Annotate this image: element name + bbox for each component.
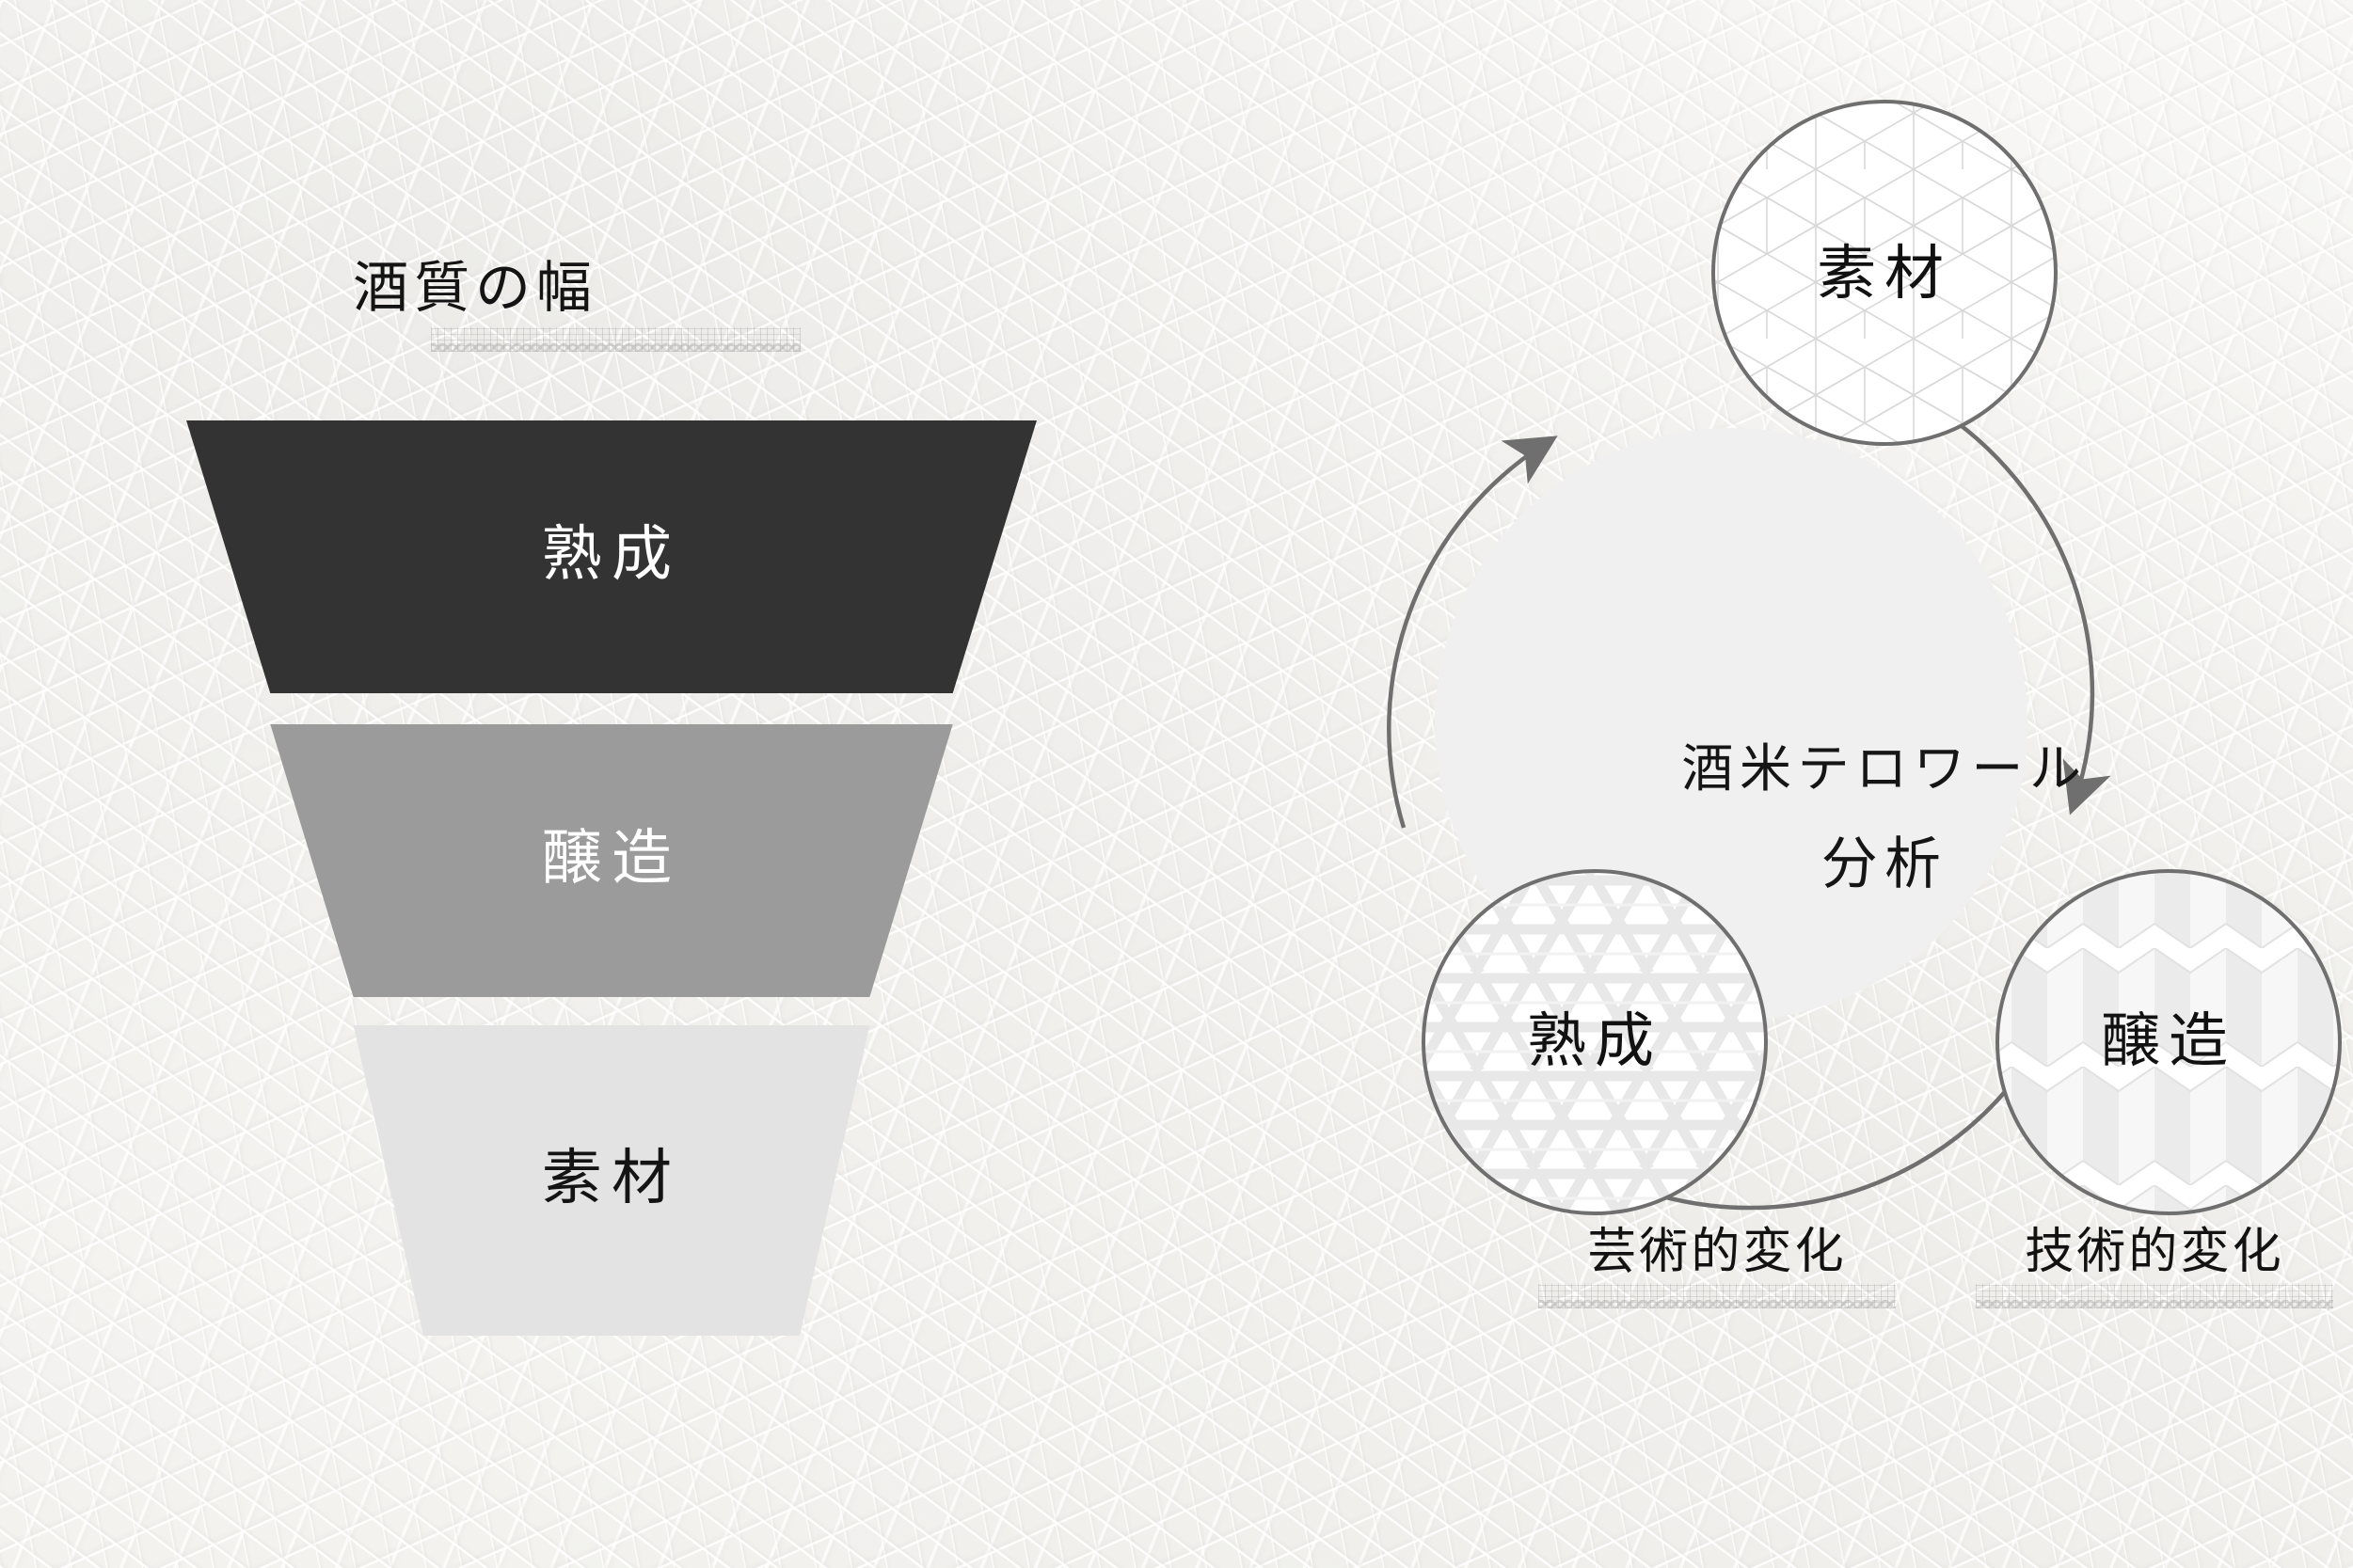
cycle-caption-technical-change: 技術的変化 [1966,1212,2343,1282]
funnel-title: 酒質の幅 [0,243,950,323]
cycle-node-label-jukusei: 熟成 [1468,1012,1722,1071]
funnel-segment-sozai[interactable]: 素材 [174,1025,1049,1336]
cycle-center-title-line-1: 酒米テロワール [1588,726,2181,801]
cycle-node-label-jozo: 醸造 [2042,1012,2296,1071]
cycle-center-title-line-2: 分析 [1588,818,2181,900]
funnel-segment-jozo[interactable]: 醸造 [174,724,1049,997]
cycle-caption-artistic-rule [1538,1284,1896,1308]
funnel-segment-jukusei[interactable]: 熟成 [174,420,1049,693]
funnel-segment-label: 醸造 [542,829,681,889]
cycle-node-label-sozai: 素材 [1757,245,2011,304]
cycle-caption-technical-rule [1976,1284,2333,1308]
funnel-segment-label: 熟成 [542,525,681,585]
funnel-title-decorative-rule [431,327,801,352]
funnel-segment-label: 素材 [542,1148,681,1209]
cycle-diagram-panel: 素材 醸造 熟成 酒米テロワール 分析 芸術的変化 技術的変化 [1082,0,2353,1568]
cycle-caption-artistic-change: 芸術的変化 [1529,1212,1905,1282]
funnel-panel: 酒質の幅 熟成 醸造 素材 [0,0,1082,1568]
